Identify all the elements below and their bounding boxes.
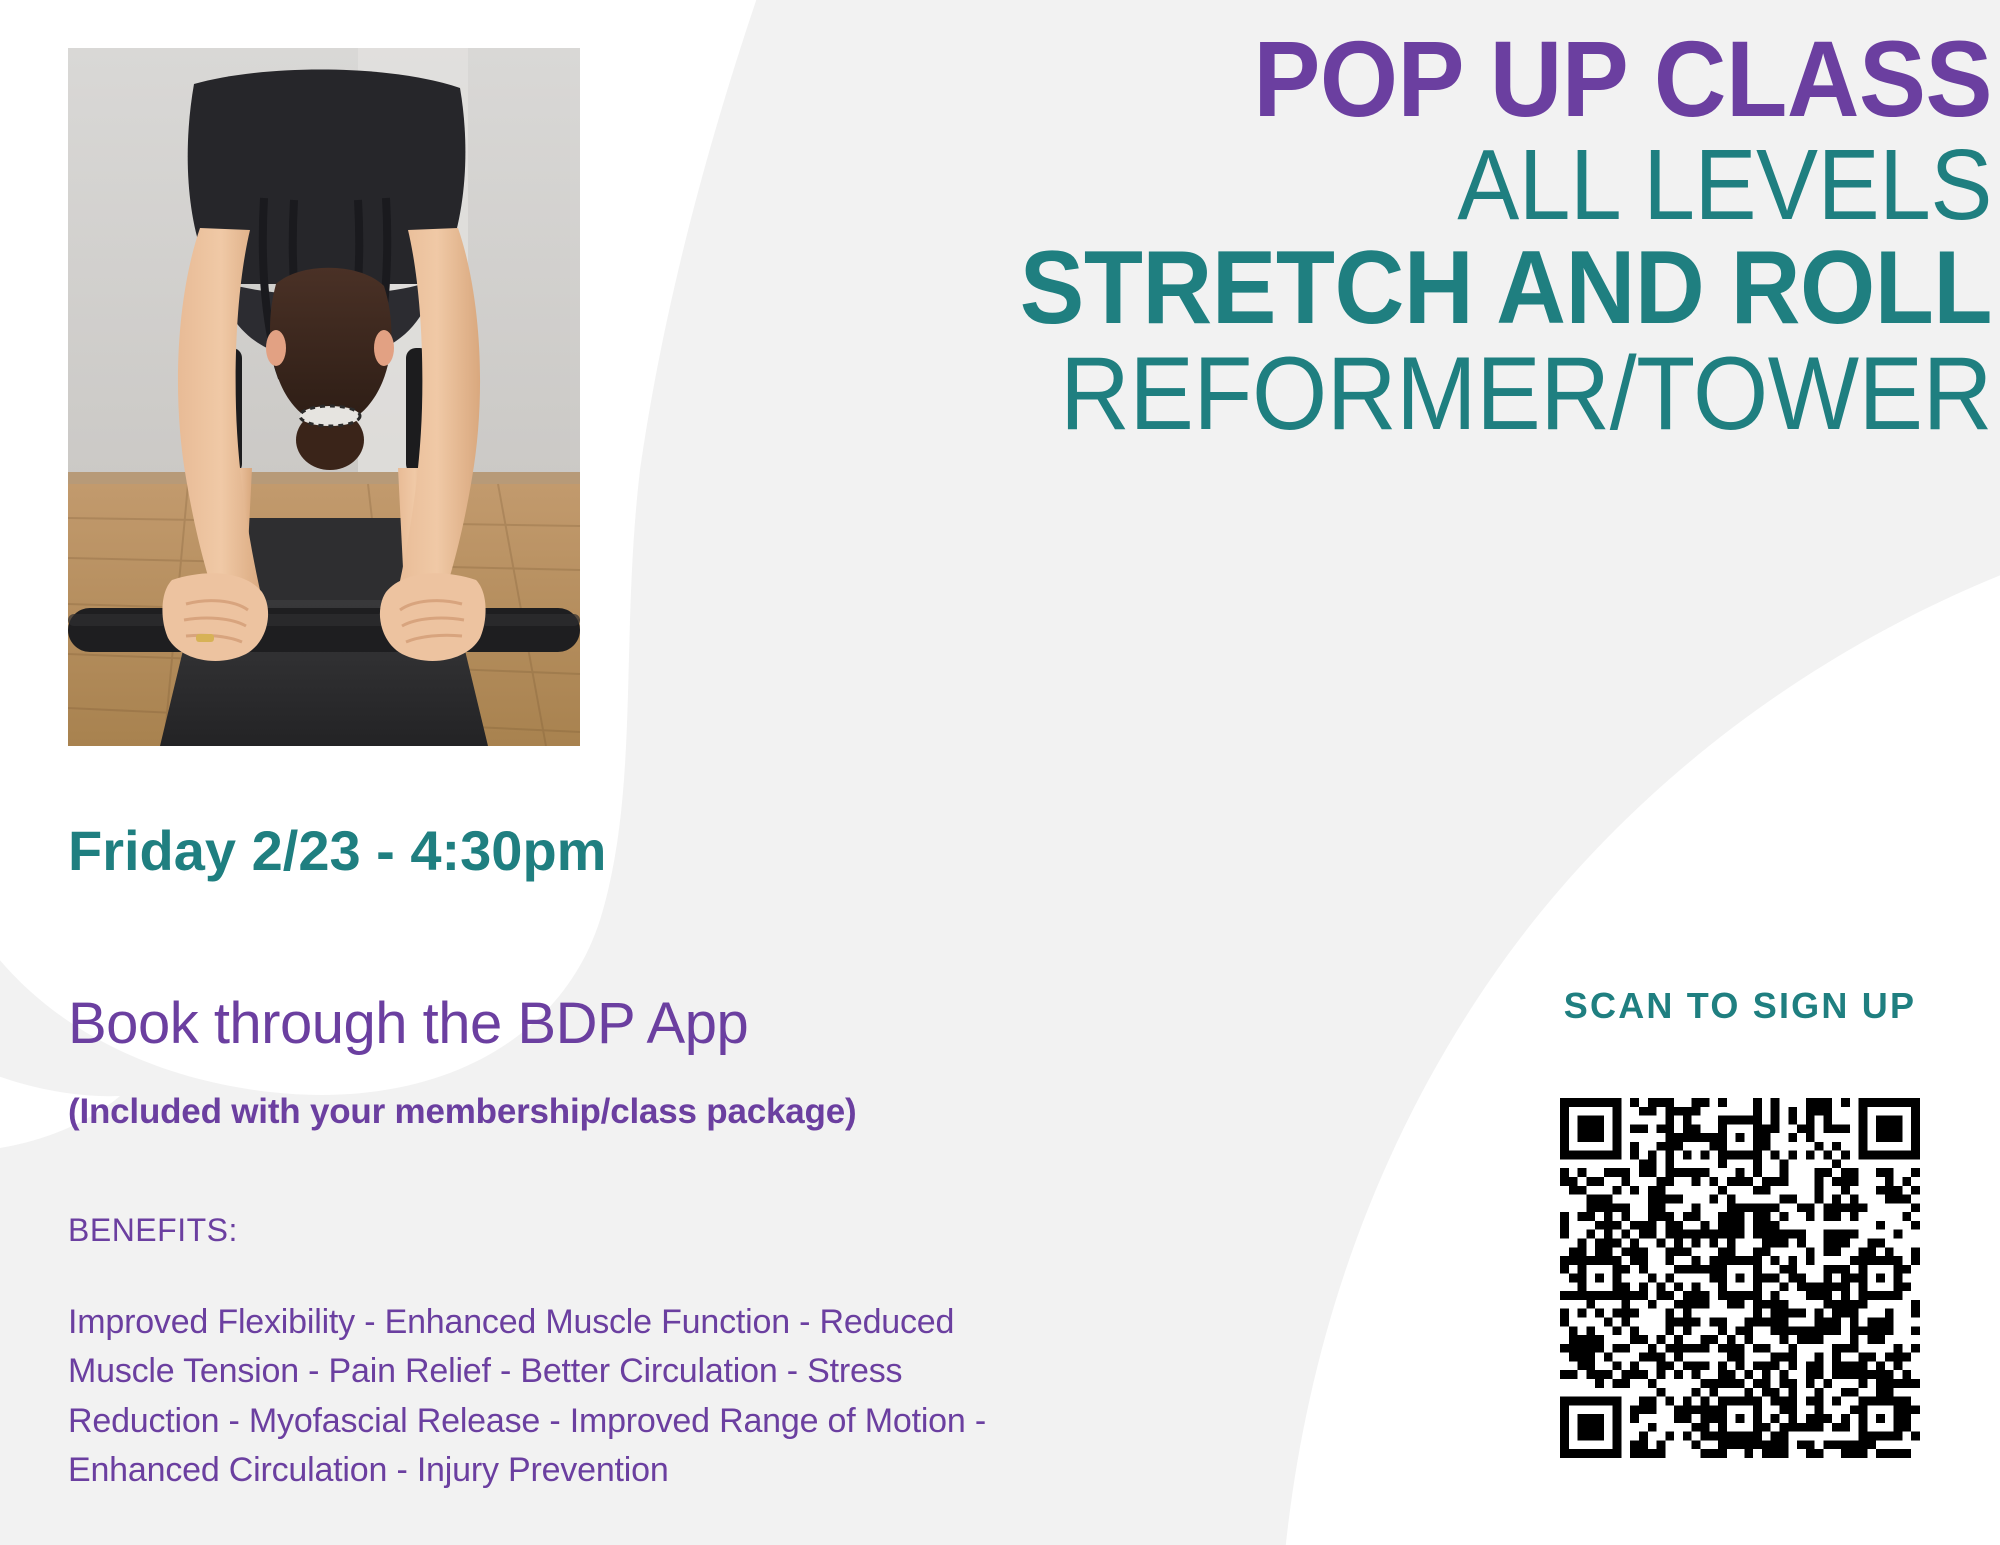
scan-to-sign-up-label: SCAN TO SIGN UP [1530, 985, 1950, 1027]
benefits-list: Improved Flexibility - Enhanced Muscle F… [68, 1298, 1188, 1495]
class-datetime: Friday 2/23 - 4:30pm [68, 818, 606, 883]
headline-stretch-and-roll: STRETCH AND ROLL [586, 238, 1992, 340]
booking-note: (Included with your membership/class pac… [68, 1092, 856, 1132]
benefits-line: Reduction - Myofascial Release - Improve… [68, 1397, 1188, 1446]
benefits-line: Muscle Tension - Pain Relief - Better Ci… [68, 1347, 1188, 1396]
headline-pop-up-class: POP UP CLASS [586, 26, 1992, 132]
benefits-line: Enhanced Circulation - Injury Prevention [68, 1446, 1188, 1495]
headline-all-levels: ALL LEVELS [586, 136, 1992, 234]
benefits-line: Improved Flexibility - Enhanced Muscle F… [68, 1298, 1188, 1347]
flyer-poster: POP UP CLASS ALL LEVELS STRETCH AND ROLL… [0, 0, 2000, 1545]
benefits-label: BENEFITS: [68, 1212, 238, 1249]
qr-code-icon[interactable] [1560, 1098, 1920, 1458]
headline-block: POP UP CLASS ALL LEVELS STRETCH AND ROLL… [480, 26, 2000, 446]
booking-instruction: Book through the BDP App [68, 990, 748, 1057]
headline-reformer-tower: REFORMER/TOWER [586, 344, 1992, 446]
